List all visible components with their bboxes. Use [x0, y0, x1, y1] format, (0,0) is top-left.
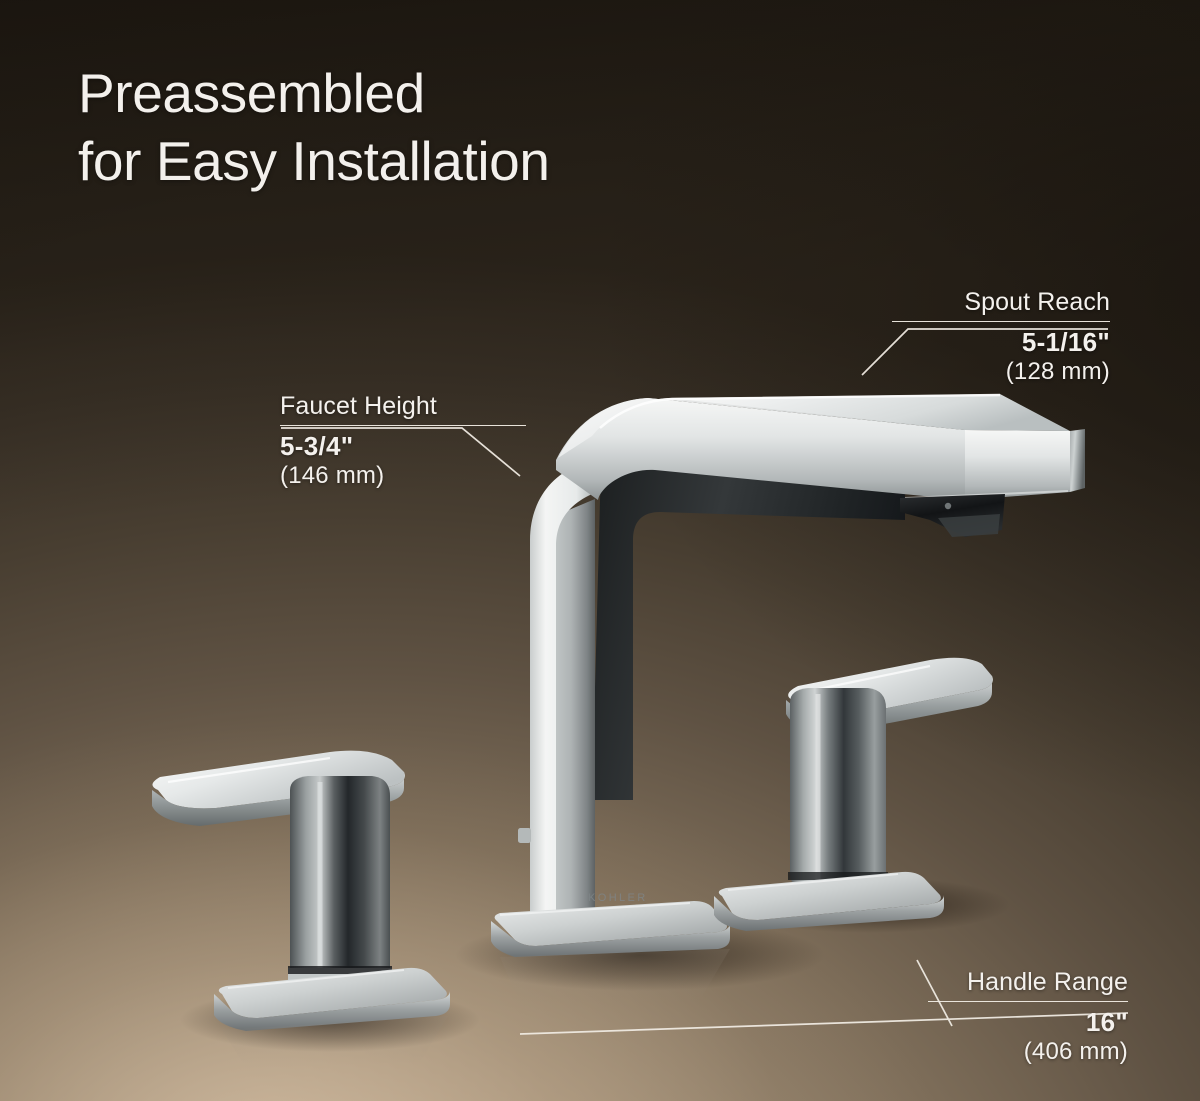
callout-spout-reach-value: 5-1/16": [880, 327, 1110, 358]
spout-beam-body: [965, 430, 1070, 500]
callout-faucet-height-rule: [280, 425, 526, 426]
product-hero-image: KOHLER: [0, 0, 1200, 1101]
kohler-wordmark: KOHLER: [588, 892, 648, 904]
spout-end-cap: [1070, 429, 1085, 492]
callout-handle-range-title: Handle Range: [928, 968, 1128, 996]
aerator-lip: [938, 514, 1000, 537]
spout-side-fitting: [518, 828, 531, 843]
callout-handle-range-value: 16": [928, 1007, 1128, 1038]
callout-spout-reach: Spout Reach 5-1/16" (128 mm): [880, 288, 1110, 386]
spout-escutcheon: [491, 901, 730, 957]
aerator-screw: [945, 503, 951, 509]
callout-spout-reach-metric: (128 mm): [880, 358, 1110, 387]
callout-handle-range-metric: (406 mm): [928, 1038, 1128, 1067]
spout-floor-reflection: [500, 949, 730, 1004]
left-handle-body: [290, 776, 390, 988]
left-handle: [152, 751, 450, 1031]
callout-spout-reach-rule: [892, 321, 1110, 322]
callout-spout-reach-title: Spout Reach: [880, 288, 1110, 316]
callout-faucet-height-metric: (146 mm): [280, 462, 526, 491]
callout-faucet-height-title: Faucet Height: [280, 392, 526, 420]
callout-faucet-height-value: 5-3/4": [280, 431, 526, 462]
page-title: Preassembled for Easy Installation: [78, 60, 550, 195]
right-handle-body: [790, 688, 886, 890]
callout-handle-range: Handle Range 16" (406 mm): [928, 968, 1128, 1066]
callout-handle-range-rule: [928, 1001, 1128, 1002]
callout-faucet-height: Faucet Height 5-3/4" (146 mm): [280, 392, 526, 490]
